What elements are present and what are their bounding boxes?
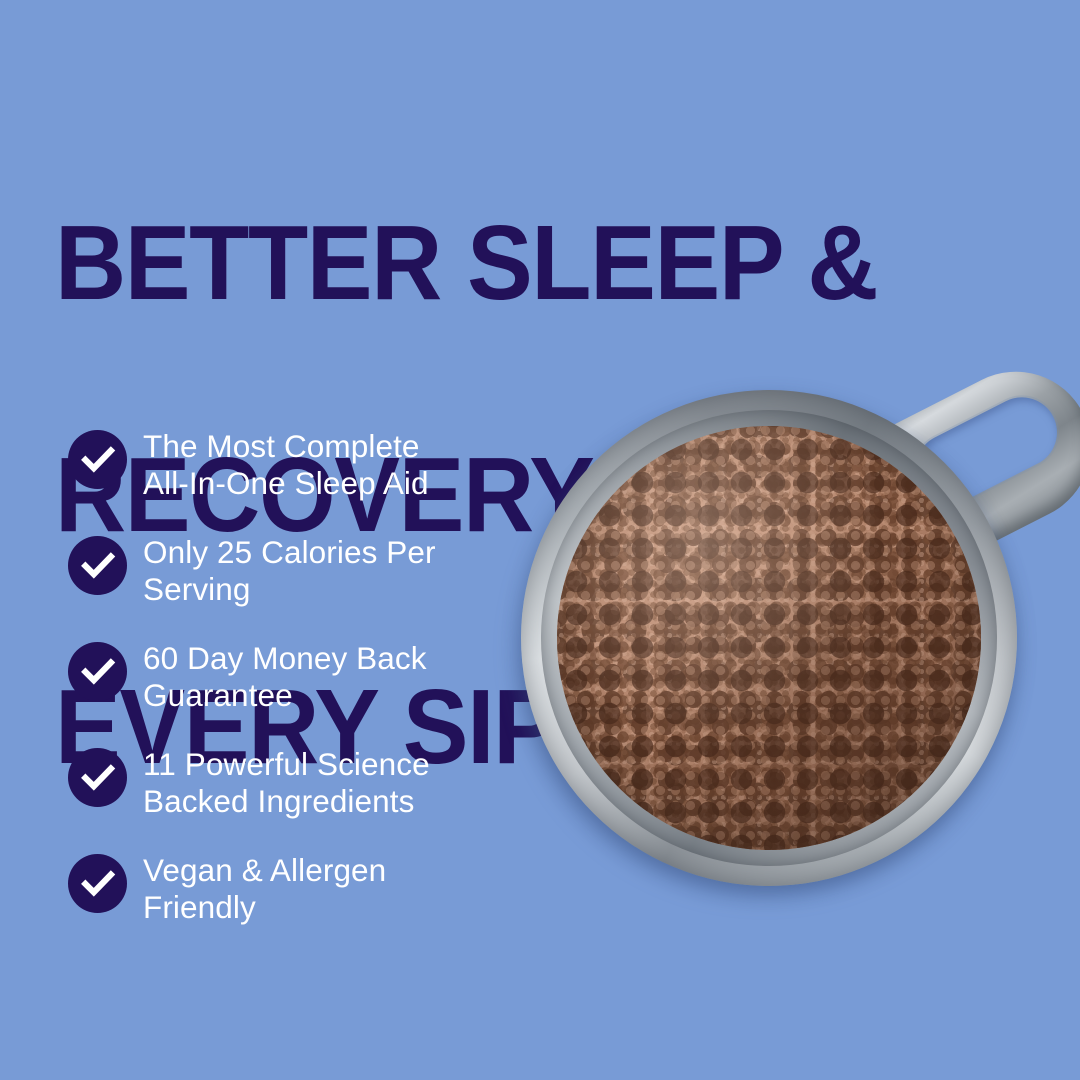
check-icon <box>68 642 127 701</box>
check-icon <box>68 536 127 595</box>
check-icon <box>68 854 127 913</box>
headline-line-1: BETTER SLEEP & <box>55 205 948 321</box>
product-image-mug <box>500 370 1080 910</box>
list-item: Vegan & Allergen Friendly <box>68 852 498 958</box>
check-icon <box>68 430 127 489</box>
benefit-label: 11 Powerful Science Backed Ingredients <box>143 746 498 820</box>
benefit-label: Only 25 Calories Per Serving <box>143 534 498 608</box>
list-item: 60 Day Money Back Guarantee <box>68 640 498 746</box>
cocoa-liquid <box>557 426 981 850</box>
check-icon <box>68 748 127 807</box>
list-item: 11 Powerful Science Backed Ingredients <box>68 746 498 852</box>
mug-outer-rim <box>521 390 1017 886</box>
list-item: The Most Complete All-In-One Sleep Aid <box>68 428 498 534</box>
list-item: Only 25 Calories Per Serving <box>68 534 498 640</box>
benefit-label: The Most Complete All-In-One Sleep Aid <box>143 428 498 502</box>
promo-graphic: BETTER SLEEP & RECOVERY WITH EVERY SIP T… <box>0 0 1080 1080</box>
benefits-list: The Most Complete All-In-One Sleep Aid O… <box>68 428 498 958</box>
cocoa-surface-lighting <box>557 426 981 850</box>
benefit-label: 60 Day Money Back Guarantee <box>143 640 498 714</box>
benefit-label: Vegan & Allergen Friendly <box>143 852 498 926</box>
